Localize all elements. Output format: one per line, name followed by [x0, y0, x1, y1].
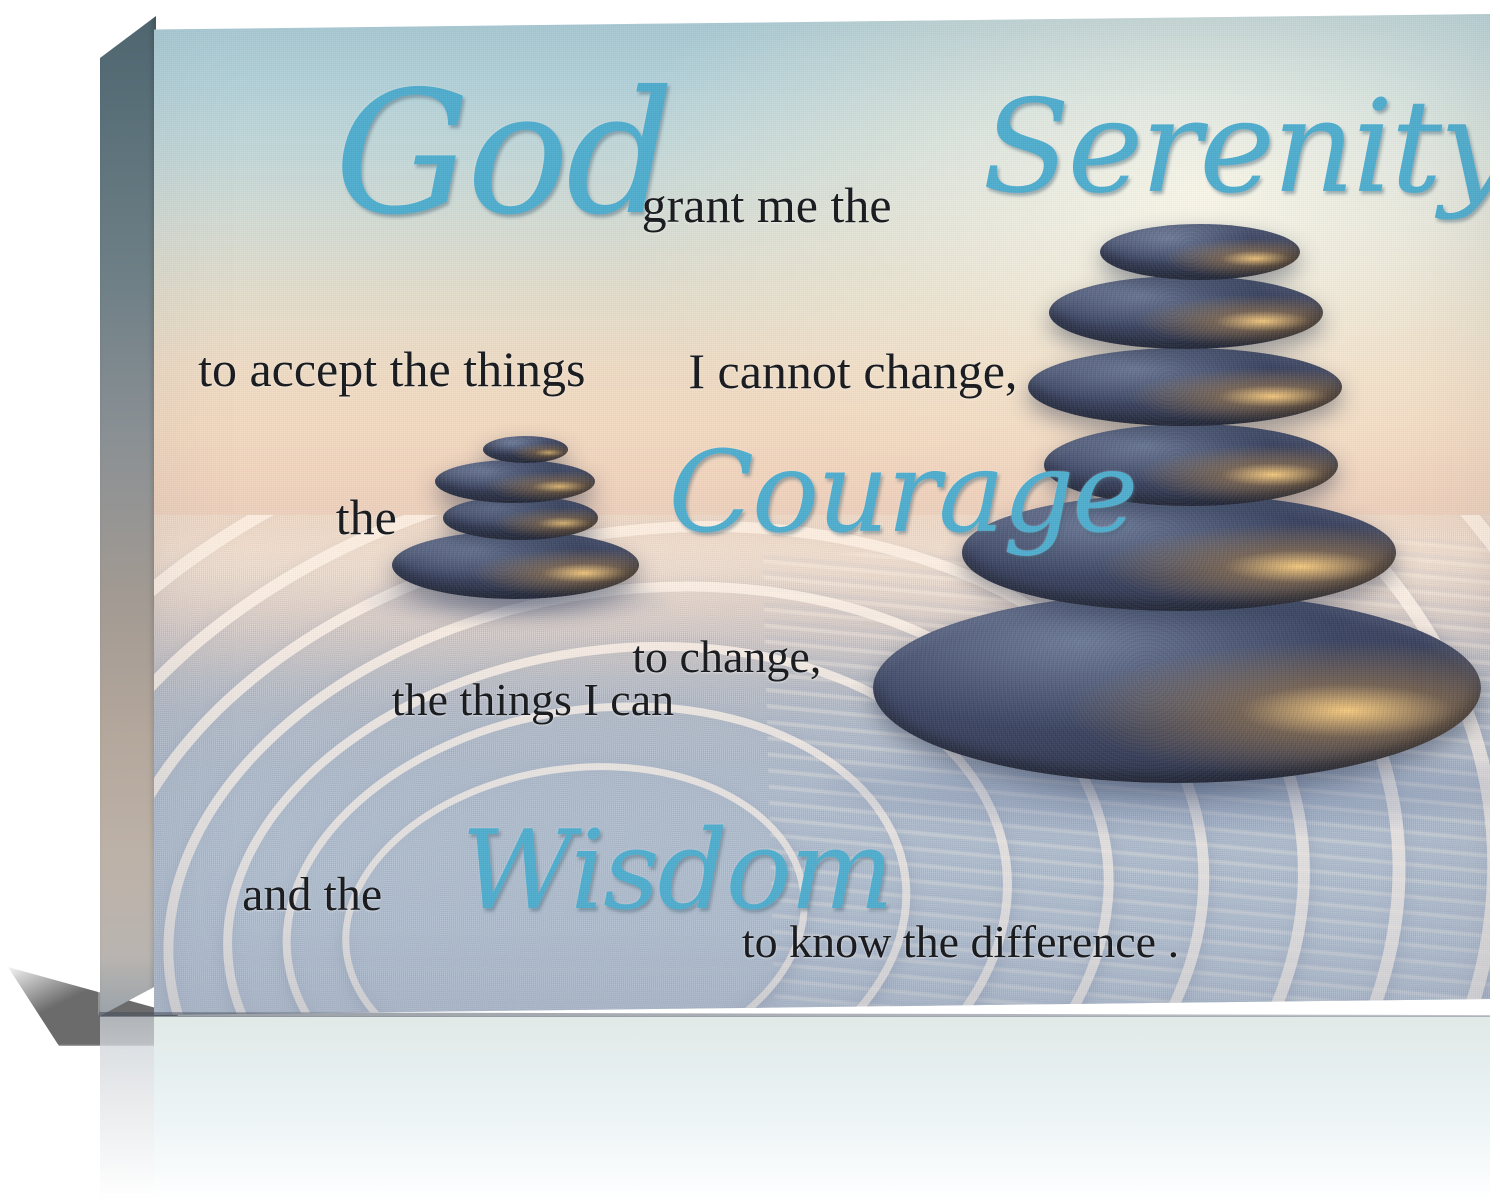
reflection-content: and the Wisdom to know the difference . — [154, 1016, 1490, 1201]
canvas-wrapped-side-edge — [100, 16, 156, 1016]
small-stack-stone-base — [392, 531, 639, 599]
floor-reflection: and the Wisdom to know the difference . — [154, 1016, 1490, 1201]
quote-word-courage: Courage — [668, 437, 1136, 549]
canvas-artwork-face[interactable]: God grant me the Serenity to accept the … — [154, 14, 1490, 1015]
quote-word-serenity: Serenity — [982, 84, 1490, 212]
large-stack-stone-base — [873, 593, 1481, 783]
large-stack-stone-top — [1100, 224, 1300, 280]
large-stack-stone-2 — [1049, 276, 1323, 349]
quote-phrase-accept: to accept the things — [198, 340, 585, 398]
large-stack-stone-3 — [1028, 348, 1342, 426]
quote-phrase-cannot: I cannot change, — [688, 342, 1017, 400]
quote-phrase-know: to know the difference . — [742, 915, 1179, 968]
reflection-side-edge — [100, 1016, 156, 1201]
quote-word-wisdom: Wisdom — [461, 815, 892, 925]
product-photo-stage: God grant me the Serenity to accept the … — [0, 0, 1500, 1201]
quote-word-the: the — [336, 488, 397, 546]
quote-phrase-grant: grant me the — [642, 176, 892, 234]
quote-word-god: God — [334, 69, 671, 239]
reflection-sky — [154, 1016, 1490, 1201]
quote-phrase-thingsican: the things I can — [392, 673, 674, 726]
canvas-bottom-edge — [100, 1012, 1490, 1017]
quote-phrase-andthe: and the — [242, 867, 382, 922]
